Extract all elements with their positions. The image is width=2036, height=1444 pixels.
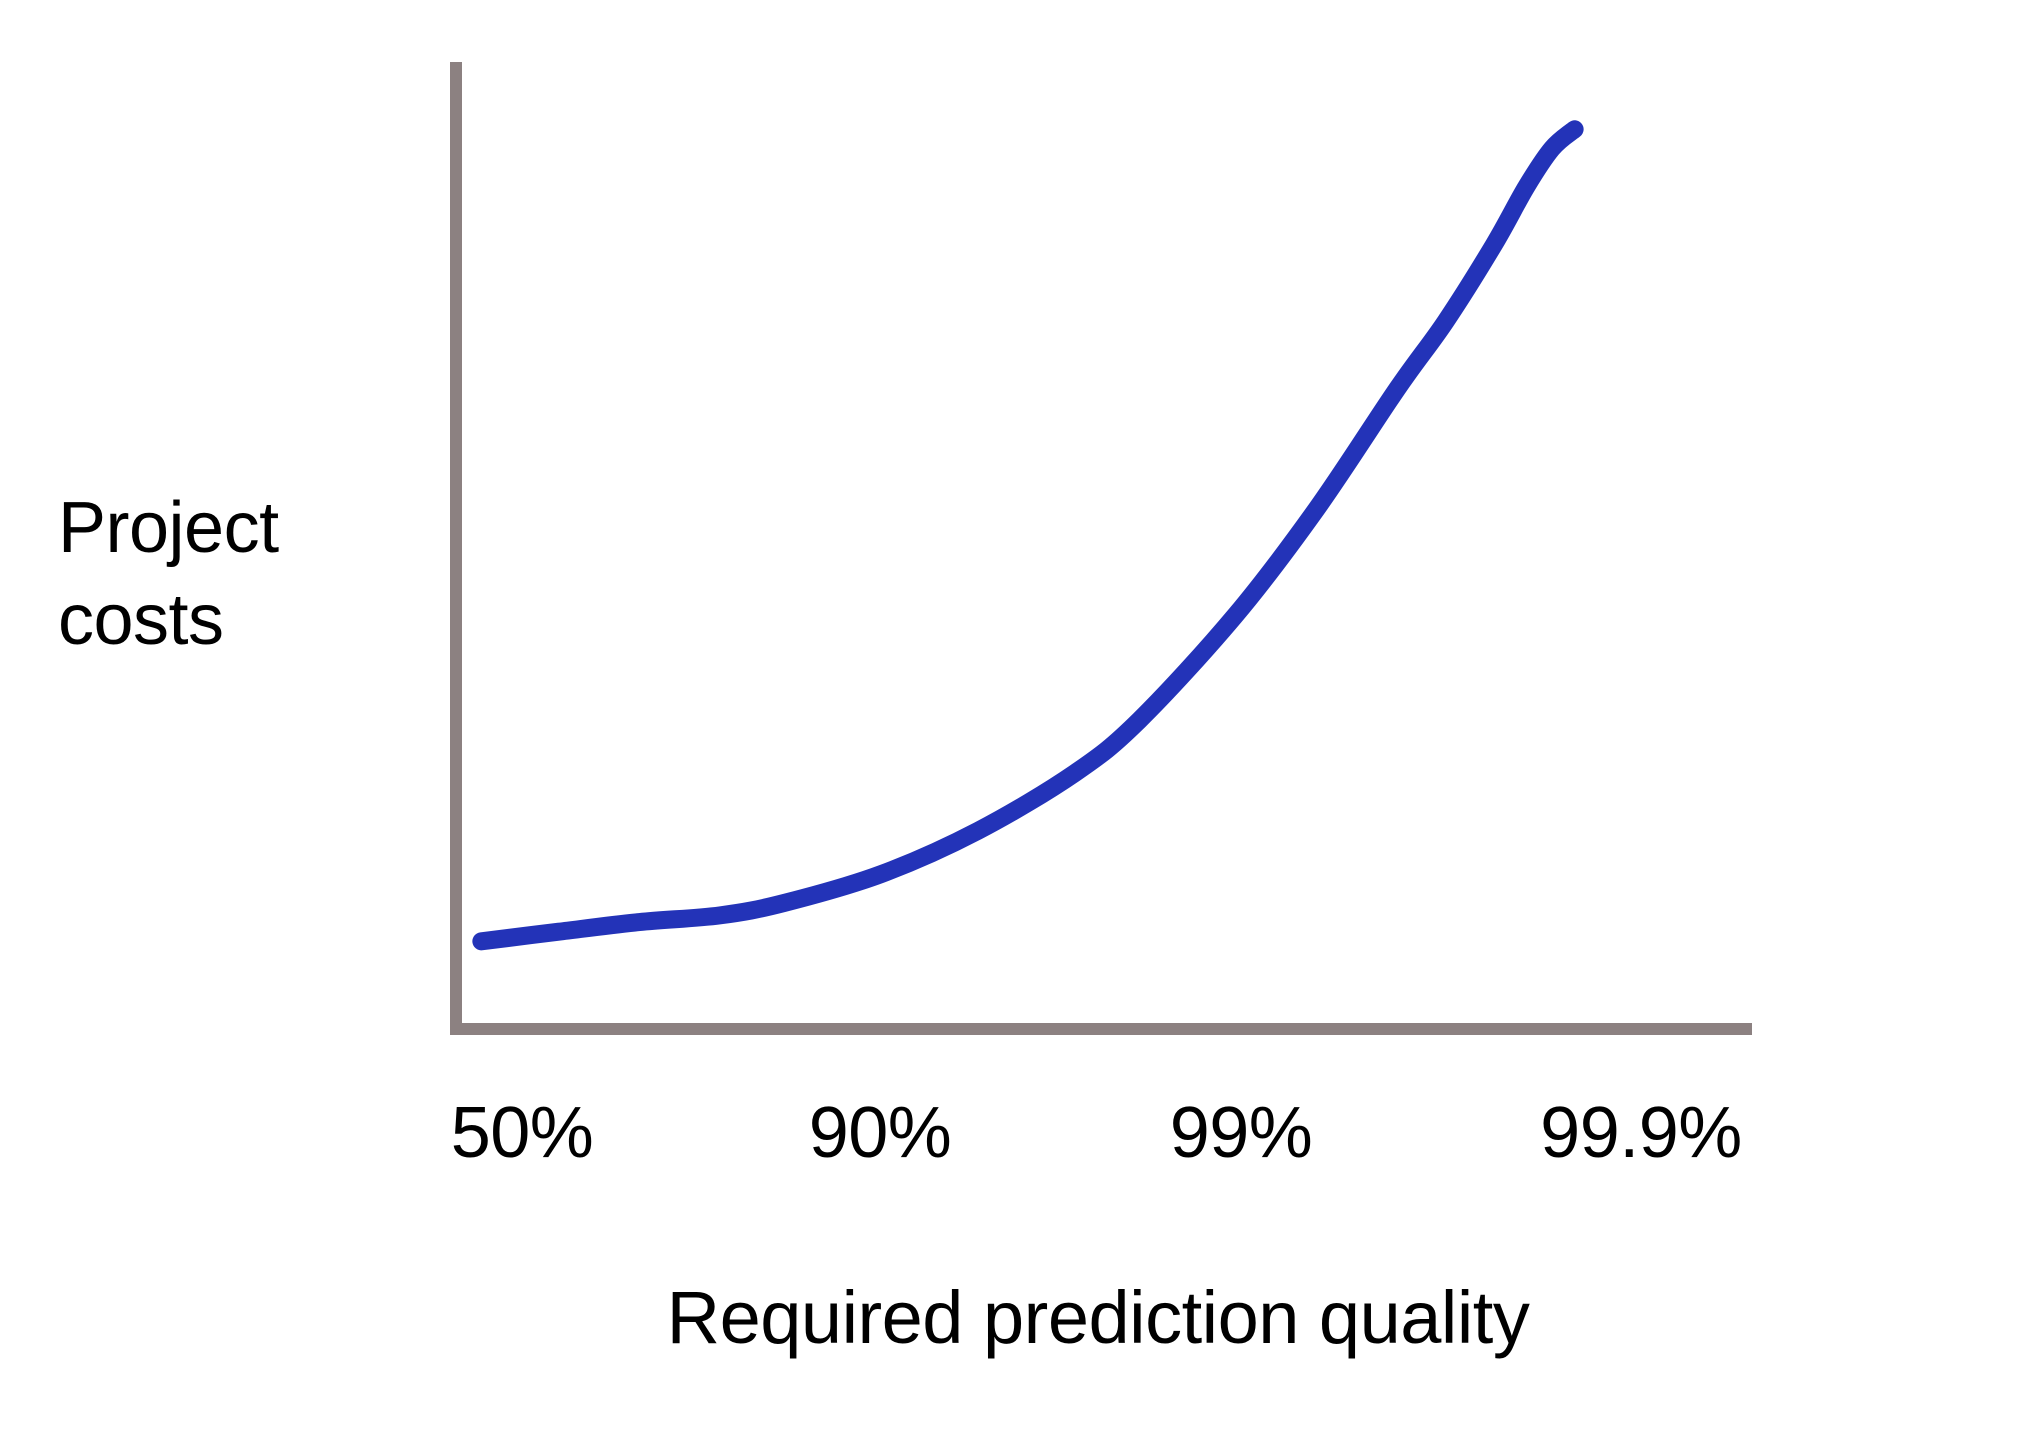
y-axis-title: Project costs: [58, 482, 438, 666]
x-axis-title: Required prediction quality: [0, 1272, 2036, 1364]
chart-figure: Project costs 50% 90% 99% 99.9% Required…: [0, 0, 2036, 1444]
x-tick-label-99: 99%: [1170, 1090, 1313, 1176]
x-tick-label-50: 50%: [451, 1090, 594, 1176]
y-axis-line: [450, 62, 462, 1035]
x-tick-label-99-9: 99.9%: [1540, 1090, 1742, 1176]
cost-curve-line: [481, 129, 1574, 941]
x-tick-label-90: 90%: [809, 1090, 952, 1176]
plot-area: [0, 0, 2036, 1444]
x-axis-line: [450, 1023, 1752, 1035]
